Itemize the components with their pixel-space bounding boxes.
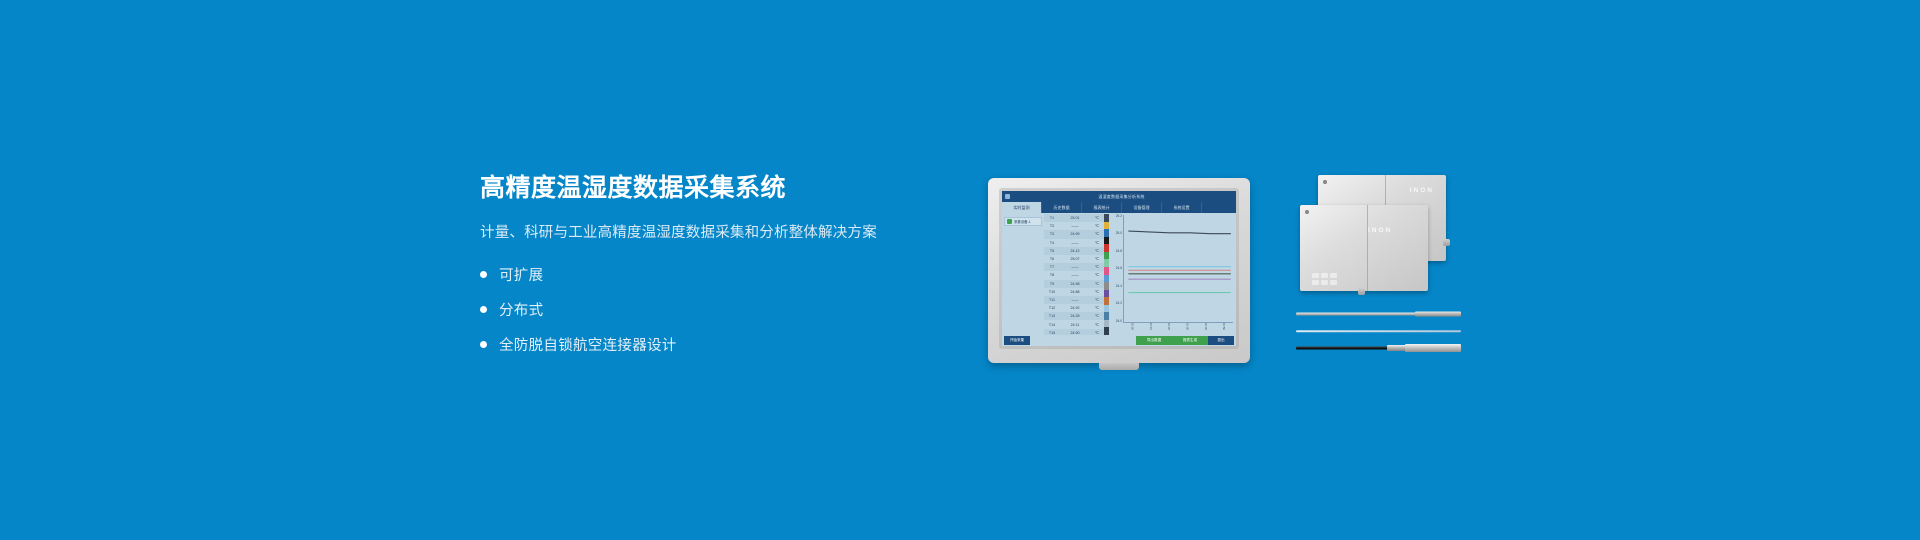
feature-label: 分布式 bbox=[499, 299, 543, 320]
channel-value: —— bbox=[1060, 224, 1090, 228]
device-screen: 温湿度数据采集分析系统 实时监测 历史数据 报表统计 设备管理 系统设置 采集设… bbox=[1002, 191, 1236, 346]
y-axis-tick: 24.0 bbox=[1116, 320, 1122, 323]
channel-unit: ℃ bbox=[1090, 298, 1104, 302]
port-icon bbox=[1330, 280, 1337, 285]
channel-unit: ℃ bbox=[1090, 249, 1104, 253]
tabbar-filler bbox=[1202, 202, 1236, 213]
hero-copy: 高精度温湿度数据采集系统 计量、科研与工业高精度温湿度数据采集和分析整体解决方案… bbox=[480, 175, 950, 369]
probe-body bbox=[1405, 344, 1461, 352]
x-axis-tick: 10:10 bbox=[1149, 323, 1152, 333]
tab-realtime[interactable]: 实时监测 bbox=[1002, 202, 1042, 213]
sensor-probes bbox=[1296, 306, 1461, 358]
footer-spacer bbox=[1030, 336, 1136, 345]
channel-value: 24.28 bbox=[1060, 314, 1090, 318]
device-online-icon bbox=[1007, 219, 1012, 224]
port-icon bbox=[1321, 273, 1328, 278]
enclosure-seam bbox=[1367, 205, 1368, 291]
bullet-dot-icon bbox=[480, 306, 487, 313]
channel-id: T7 bbox=[1044, 265, 1060, 269]
list-item: 可扩展 bbox=[480, 264, 950, 285]
legend-color-swatch bbox=[1104, 214, 1109, 222]
channel-unit: ℃ bbox=[1090, 216, 1104, 220]
legend-color-swatch bbox=[1104, 282, 1109, 290]
generate-report-button[interactable]: 报表生成 bbox=[1172, 336, 1208, 345]
legend-color-swatch bbox=[1104, 252, 1109, 260]
brand-logo: INON bbox=[1410, 187, 1434, 194]
y-axis-tick: 24.4 bbox=[1116, 285, 1122, 288]
y-axis-tick: 25.0 bbox=[1116, 232, 1122, 235]
channel-id: T10 bbox=[1044, 290, 1060, 294]
page-subtitle: 计量、科研与工业高精度温湿度数据采集和分析整体解决方案 bbox=[480, 221, 950, 242]
enclosure-front: INON bbox=[1300, 205, 1428, 291]
table-row[interactable]: T1224.92℃ bbox=[1044, 304, 1104, 312]
channel-unit: ℃ bbox=[1090, 273, 1104, 277]
channel-id: T13 bbox=[1044, 314, 1060, 318]
channel-id: T8 bbox=[1044, 273, 1060, 277]
channel-unit: ℃ bbox=[1090, 306, 1104, 310]
table-row[interactable]: T11——℃ bbox=[1044, 296, 1104, 304]
port-icon bbox=[1330, 273, 1337, 278]
channel-value: 24.98 bbox=[1060, 282, 1090, 286]
channel-unit: ℃ bbox=[1090, 290, 1104, 294]
channel-unit: ℃ bbox=[1090, 232, 1104, 236]
port-icon bbox=[1312, 280, 1319, 285]
export-data-button[interactable]: 导出数据 bbox=[1136, 336, 1172, 345]
x-axis-tick: 10:40 bbox=[1204, 323, 1207, 333]
trend-chart: 25.225.024.824.624.424.224.0 10:0010:101… bbox=[1111, 215, 1233, 333]
channel-id: T3 bbox=[1044, 232, 1060, 236]
channel-value: 24.11 bbox=[1060, 323, 1090, 327]
panel-pc-device: 温湿度数据采集分析系统 实时监测 历史数据 报表统计 设备管理 系统设置 采集设… bbox=[988, 178, 1250, 363]
channel-value: 24.99 bbox=[1060, 232, 1090, 236]
brand-logo: INON bbox=[1368, 227, 1392, 234]
tab-report[interactable]: 报表统计 bbox=[1082, 202, 1122, 213]
channel-id: T2 bbox=[1044, 224, 1060, 228]
feature-label: 全防脱自锁航空连接器设计 bbox=[499, 334, 677, 355]
table-row[interactable]: T625.07℃ bbox=[1044, 255, 1104, 263]
legend-color-swatch bbox=[1104, 237, 1109, 245]
channel-unit: ℃ bbox=[1090, 282, 1104, 286]
channel-unit: ℃ bbox=[1090, 265, 1104, 269]
app-tabbar: 实时监测 历史数据 报表统计 设备管理 系统设置 bbox=[1002, 202, 1236, 213]
tab-settings[interactable]: 系统设置 bbox=[1162, 202, 1202, 213]
channel-value: —— bbox=[1060, 298, 1090, 302]
x-axis-tick: 10:00 bbox=[1131, 323, 1134, 333]
port-icon bbox=[1321, 280, 1328, 285]
x-axis-tick: 10:30 bbox=[1186, 323, 1189, 333]
channel-value: 24.92 bbox=[1060, 306, 1090, 310]
channel-value: —— bbox=[1060, 241, 1090, 245]
panel-pc-bezel: 温湿度数据采集分析系统 实时监测 历史数据 报表统计 设备管理 系统设置 采集设… bbox=[999, 188, 1239, 349]
legend-color-swatch bbox=[1104, 275, 1109, 283]
table-row[interactable]: T125.01℃ bbox=[1044, 214, 1104, 222]
list-item: 全防脱自锁航空连接器设计 bbox=[480, 334, 950, 355]
channel-id: T12 bbox=[1044, 306, 1060, 310]
channel-value: —— bbox=[1060, 273, 1090, 277]
table-row[interactable]: T1424.11℃ bbox=[1044, 320, 1104, 328]
legend-color-swatch bbox=[1104, 297, 1109, 305]
channel-id: T5 bbox=[1044, 249, 1060, 253]
table-row[interactable]: T324.99℃ bbox=[1044, 230, 1104, 238]
start-capture-button[interactable]: 开始采集 bbox=[1004, 336, 1030, 345]
app-titlebar: 温湿度数据采集分析系统 bbox=[1002, 191, 1236, 202]
chart-plot-area bbox=[1123, 215, 1233, 323]
tab-device[interactable]: 设备管理 bbox=[1122, 202, 1162, 213]
chart-x-axis: 10:0010:1010:2010:3010:4010:50 bbox=[1123, 323, 1233, 333]
panel-pc-stand bbox=[1099, 363, 1139, 370]
feature-list: 可扩展 分布式 全防脱自锁航空连接器设计 bbox=[480, 264, 950, 355]
channel-value: 24.88 bbox=[1060, 290, 1090, 294]
sidebar-item-label: 采集设备-1 bbox=[1014, 219, 1031, 224]
channel-id: T14 bbox=[1044, 323, 1060, 327]
x-axis-tick: 10:20 bbox=[1167, 323, 1170, 333]
connector-port bbox=[1443, 239, 1450, 246]
channel-unit: ℃ bbox=[1090, 241, 1104, 245]
thin-cable-probe bbox=[1296, 328, 1461, 334]
device-tree-sidebar: 采集设备-1 bbox=[1002, 213, 1044, 335]
legend-color-swatch bbox=[1104, 320, 1109, 328]
port-array bbox=[1312, 273, 1337, 285]
app-title: 温湿度数据采集分析系统 bbox=[1010, 194, 1233, 200]
channel-unit: ℃ bbox=[1090, 257, 1104, 261]
channel-unit: ℃ bbox=[1090, 314, 1104, 318]
exit-button[interactable]: 退出 bbox=[1208, 336, 1234, 345]
table-row[interactable]: T8——℃ bbox=[1044, 271, 1104, 279]
legend-color-swatch bbox=[1104, 259, 1109, 267]
legend-color-swatch bbox=[1104, 327, 1109, 335]
table-row[interactable]: T524.12℃ bbox=[1044, 247, 1104, 255]
table-row[interactable]: T1024.88℃ bbox=[1044, 288, 1104, 296]
channel-table: T125.01℃T2——℃T324.99℃T4——℃T524.12℃T625.0… bbox=[1044, 213, 1104, 335]
bullet-dot-icon bbox=[480, 341, 487, 348]
table-row[interactable]: T1324.28℃ bbox=[1044, 312, 1104, 320]
probe-cable bbox=[1296, 330, 1461, 332]
chart-series-line bbox=[1128, 231, 1230, 234]
black-cable-probe bbox=[1296, 342, 1461, 354]
legend-color-swatch bbox=[1104, 222, 1109, 230]
channel-value: 25.01 bbox=[1060, 216, 1090, 220]
x-axis-tick: 10:50 bbox=[1222, 323, 1225, 333]
channel-id: T4 bbox=[1044, 241, 1060, 245]
feature-label: 可扩展 bbox=[499, 264, 543, 285]
y-axis-tick: 24.8 bbox=[1116, 250, 1122, 253]
table-row[interactable]: T2——℃ bbox=[1044, 222, 1104, 230]
product-banner: 高精度温湿度数据采集系统 计量、科研与工业高精度温湿度数据采集和分析整体解决方案… bbox=[0, 0, 1920, 540]
legend-color-swatch bbox=[1104, 244, 1109, 252]
legend-color-swatch bbox=[1104, 229, 1109, 237]
probe-cable bbox=[1296, 347, 1388, 350]
screw-icon bbox=[1305, 210, 1309, 214]
chart-y-axis: 25.225.024.824.624.424.224.0 bbox=[1111, 215, 1122, 323]
probe-ferrule bbox=[1387, 345, 1407, 351]
channel-value: —— bbox=[1060, 265, 1090, 269]
port-icon bbox=[1312, 273, 1319, 278]
legend-color-swatch bbox=[1104, 312, 1109, 320]
y-axis-tick: 24.6 bbox=[1116, 267, 1122, 270]
bullet-dot-icon bbox=[480, 271, 487, 278]
table-row[interactable]: T924.98℃ bbox=[1044, 280, 1104, 288]
channel-value: 25.07 bbox=[1060, 257, 1090, 261]
channel-id: T9 bbox=[1044, 282, 1060, 286]
table-row[interactable]: T4——℃ bbox=[1044, 239, 1104, 247]
channel-unit: ℃ bbox=[1090, 224, 1104, 228]
channel-id: T6 bbox=[1044, 257, 1060, 261]
tab-history[interactable]: 历史数据 bbox=[1042, 202, 1082, 213]
y-axis-tick: 24.2 bbox=[1116, 302, 1122, 305]
chart-series-svg bbox=[1124, 215, 1233, 322]
channel-unit: ℃ bbox=[1090, 323, 1104, 327]
y-axis-tick: 25.2 bbox=[1116, 215, 1122, 218]
metal-probe bbox=[1296, 310, 1461, 318]
hardware-enclosures: INON INON bbox=[1300, 175, 1460, 290]
screw-icon bbox=[1323, 180, 1327, 184]
channel-id: T1 bbox=[1044, 216, 1060, 220]
app-body: 采集设备-1 T125.01℃T2——℃T324.99℃T4——℃T524.12… bbox=[1002, 213, 1236, 335]
channel-id: T11 bbox=[1044, 298, 1060, 302]
table-row[interactable]: T7——℃ bbox=[1044, 263, 1104, 271]
legend-color-swatch bbox=[1104, 290, 1109, 298]
probe-shaft bbox=[1296, 313, 1418, 316]
connector-port bbox=[1358, 288, 1365, 295]
app-footer: 开始采集 导出数据 报表生成 退出 bbox=[1002, 335, 1236, 346]
sidebar-item-device[interactable]: 采集设备-1 bbox=[1004, 217, 1042, 226]
legend-color-swatch bbox=[1104, 267, 1109, 275]
page-title: 高精度温湿度数据采集系统 bbox=[480, 175, 950, 203]
channel-value: 24.12 bbox=[1060, 249, 1090, 253]
probe-connector bbox=[1415, 312, 1461, 317]
list-item: 分布式 bbox=[480, 299, 950, 320]
series-color-legend bbox=[1104, 214, 1109, 335]
legend-color-swatch bbox=[1104, 305, 1109, 313]
